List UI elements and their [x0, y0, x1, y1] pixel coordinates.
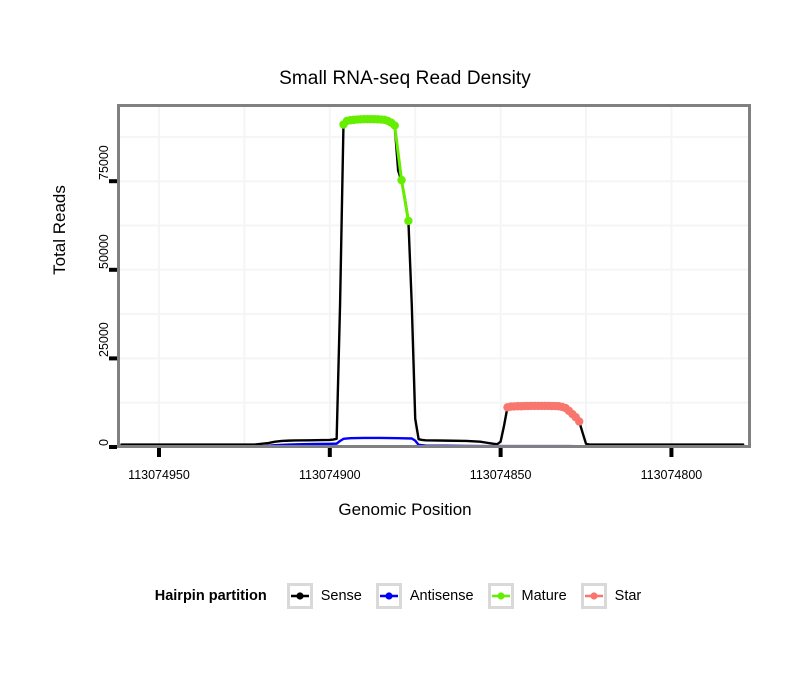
legend-line-point-icon [290, 586, 310, 606]
legend-key-swatch [488, 583, 514, 609]
legend-line-point-icon [491, 586, 511, 606]
data-point [575, 417, 583, 425]
chart-figure: Small RNA-seq Read Density Total Reads G… [0, 0, 810, 690]
legend: Hairpin partition SenseAntisenseMatureSt… [0, 583, 810, 609]
x-tick-label: 113074850 [470, 468, 532, 482]
legend-entry-label: Sense [321, 588, 362, 604]
legend-entry-sense[interactable]: Sense [287, 583, 362, 609]
legend-entry-mature[interactable]: Mature [488, 583, 567, 609]
legend-entry-star[interactable]: Star [581, 583, 642, 609]
data-point [391, 121, 399, 129]
x-tick-label: 113074800 [641, 468, 703, 482]
data-point [404, 217, 412, 225]
legend-entry-label: Star [615, 588, 642, 604]
legend-entry-label: Antisense [410, 588, 474, 604]
legend-key-swatch [287, 583, 313, 609]
legend-entries: SenseAntisenseMatureStar [287, 583, 656, 609]
x-tick-label: 113074950 [128, 468, 190, 482]
data-point [397, 176, 405, 184]
legend-entry-label: Mature [522, 588, 567, 604]
legend-entry-antisense[interactable]: Antisense [376, 583, 474, 609]
x-tick-label: 113074900 [299, 468, 361, 482]
legend-line-point-icon [584, 586, 604, 606]
legend-key-swatch [376, 583, 402, 609]
legend-line-point-icon [379, 586, 399, 606]
plot-panel [118, 105, 750, 447]
legend-key-swatch [581, 583, 607, 609]
legend-title: Hairpin partition [155, 588, 267, 604]
